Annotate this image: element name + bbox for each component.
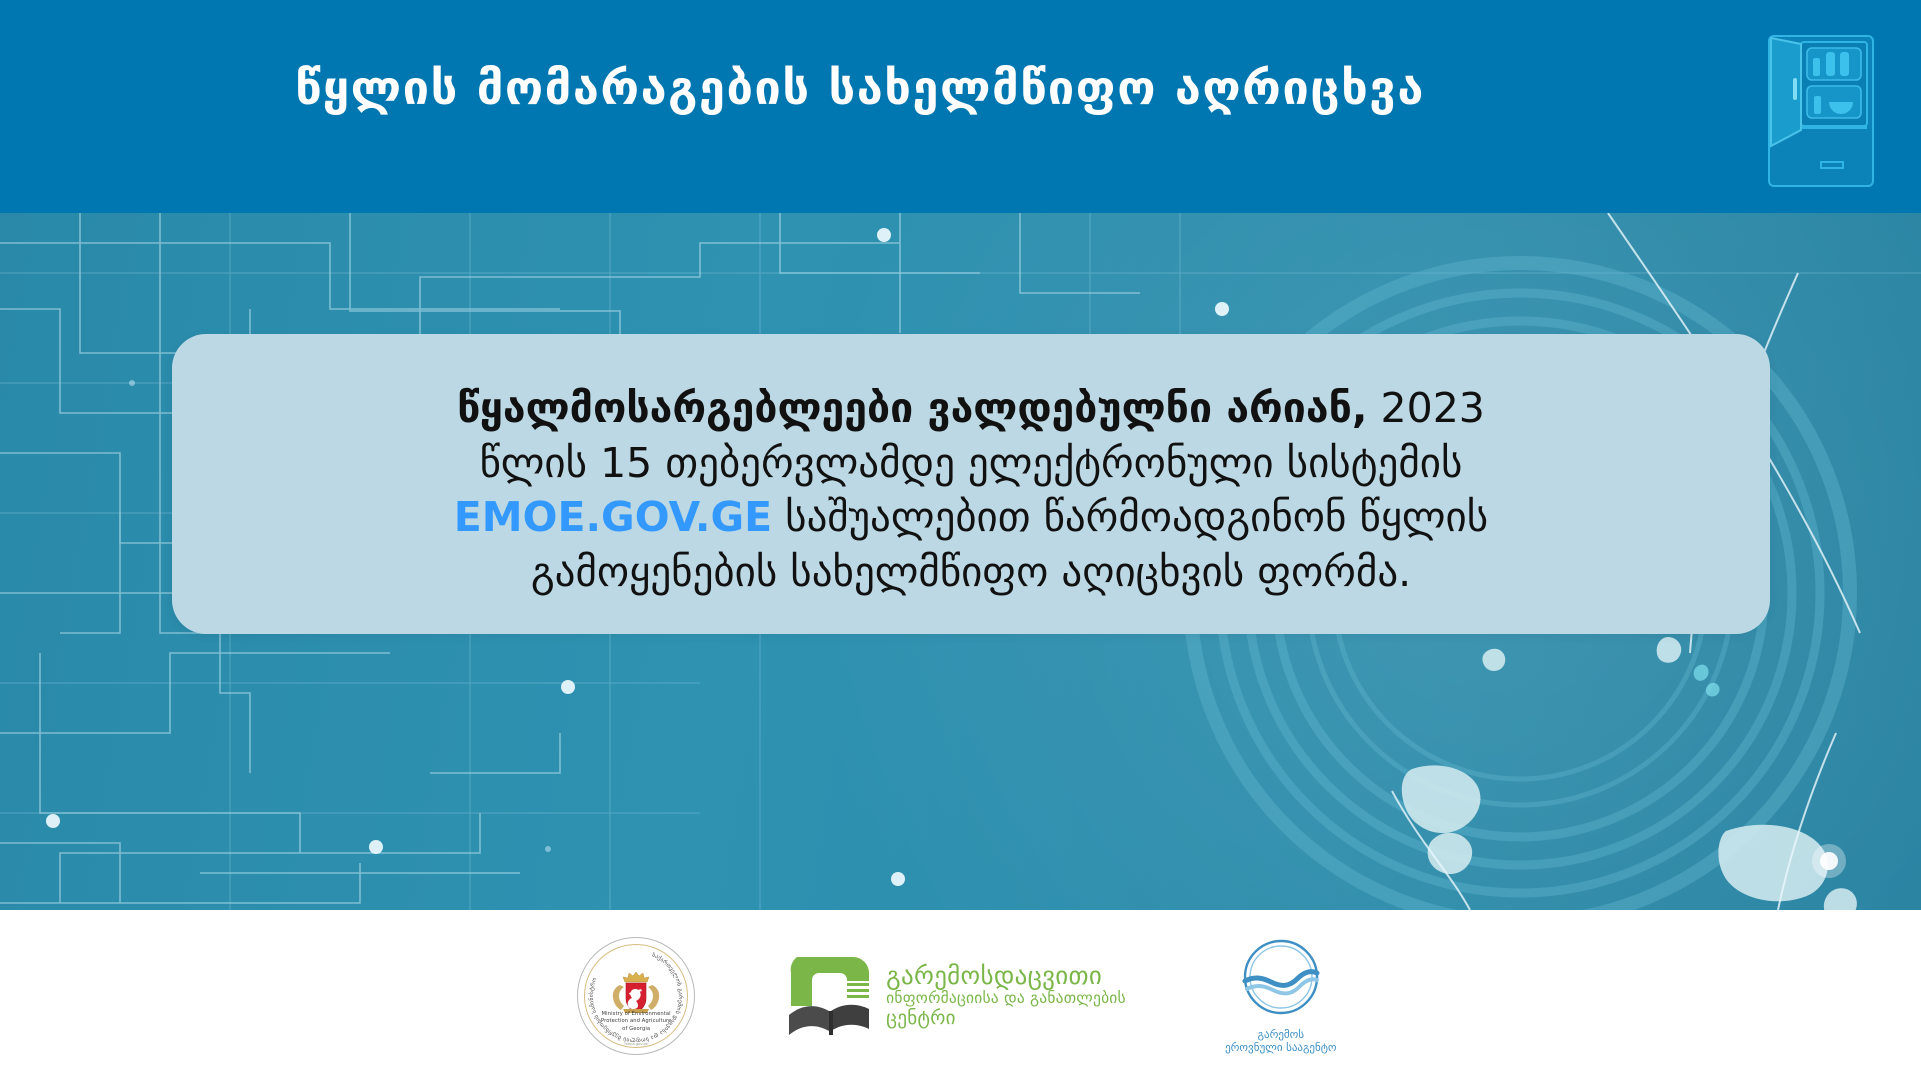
content-line-2: წლის 15 თებერვლამდე ელექტრონული სისტემის [222,436,1720,491]
page-title: წყლის მომარაგების სახელმწიფო აღრიცხვა [0,62,1720,116]
ministry-seal-icon: საქართველოს გარემოს დაცვისა და სოფლის მე… [577,937,695,1055]
eiec-line-2: ინფორმაციისა და განათლების [886,990,1126,1007]
nea-wordmark: გარემოს ეროვნული სააგენტო [1218,1028,1344,1054]
eiec-lockup: გარემოსდაცვითი ინფორმაციისა და განათლები… [787,953,1126,1039]
open-refrigerator-icon [1763,22,1883,190]
stage-background: წყალმოსარგებლეები ვალდებულნი არიან, 2023… [0,213,1921,910]
content-line-1-bold: წყალმოსარგებლეები ვალდებულნი არიან, [457,384,1367,432]
nea-lockup: გარემოს ეროვნული სააგენტო [1218,937,1344,1054]
content-line-4: გამოყენების სახელმწიფო აღიცხვის ფორმა. [222,545,1720,600]
content-line-3: EMOE.GOV.GE საშუალებით წარმოადგინონ წყლი… [222,490,1720,545]
seal-en-line-2: Protection and Agriculture [577,1018,695,1026]
header-banner: წყლის მომარაგების სახელმწიფო აღრიცხვა [0,0,1921,213]
logo-eiec: გარემოსდაცვითი ინფორმაციისა და განათლები… [787,953,1126,1039]
emoe-gov-ge-link[interactable]: EMOE.GOV.GE [454,493,772,541]
logo-ministry: საქართველოს გარემოს დაცვისა და სოფლის მე… [577,937,695,1055]
nea-line-1: გარემოს [1218,1028,1344,1041]
seal-english-text: Ministry of Environmental Protection and… [577,1011,695,1034]
seal-url-text: mepa.gov.ge [577,1042,695,1046]
seal-en-line-3: of Georgia [577,1026,695,1034]
logo-row: საქართველოს გარემოს დაცვისა და სოფლის მე… [0,910,1921,1081]
seal-en-line-1: Ministry of Environmental [577,1011,695,1019]
content-line-1-rest: 2023 [1368,384,1485,432]
content-line-1: წყალმოსარგებლეები ვალდებულნი არიან, 2023 [222,381,1720,436]
slide-root: წყლის მომარაგების სახელმწიფო აღრიცხვა [0,0,1921,1081]
content-card: წყალმოსარგებლეები ვალდებულნი არიან, 2023… [172,334,1770,634]
footer-logo-bar: საქართველოს გარემოს დაცვისა და სოფლის მე… [0,910,1921,1081]
eiec-book-mark-icon [787,953,873,1039]
eiec-line-3: ცენტრი [886,1008,1126,1029]
eiec-line-1: გარემოსდაცვითი [886,962,1126,990]
nea-line-2: ეროვნული სააგენტო [1218,1041,1344,1054]
content-paragraph: წყალმოსარგებლეები ვალდებულნი არიან, 2023… [222,381,1720,599]
content-line-3-rest: საშუალებით წარმოადგინონ წყლის [772,493,1488,541]
nea-wave-circle-icon [1239,937,1323,1021]
logo-nea: გარემოს ეროვნული სააგენტო [1218,937,1344,1054]
eiec-wordmark: გარემოსდაცვითი ინფორმაციისა და განათლები… [886,962,1126,1029]
